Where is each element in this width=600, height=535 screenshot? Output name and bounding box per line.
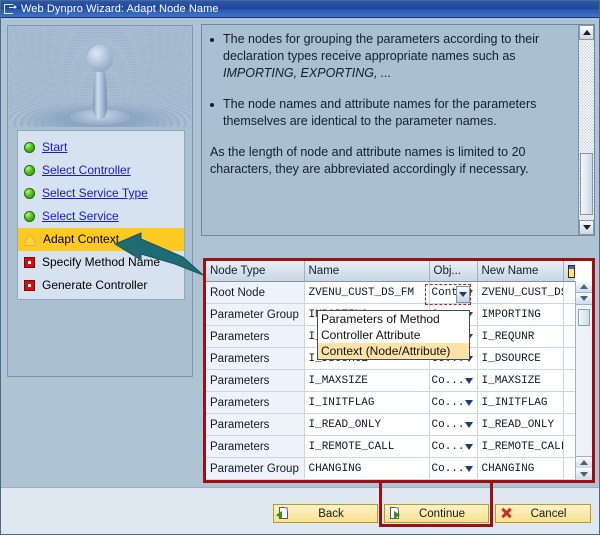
cell-spacer [563,304,575,326]
bullet-text-italic: IMPORTING, EXPORTING, ... [223,66,391,80]
column-header-settings[interactable] [563,261,575,282]
cell-node-type: Root Node [206,282,304,304]
chevron-down-icon[interactable] [465,466,473,472]
cell-object-type-text: Co... [432,375,465,387]
cell-spacer [563,370,575,392]
cell-new-name[interactable]: IMPORTING [477,304,563,326]
cell-node-type: Parameters [206,392,304,414]
sidebar-item-label: Select Service Type [42,187,148,200]
sidebar-item-generate-controller[interactable]: Generate Controller [18,274,184,297]
sidebar-item-select-service[interactable]: Select Service [18,205,184,228]
cell-node-type: Parameters [206,348,304,370]
dropdown-toggle-button[interactable] [456,286,470,303]
chevron-down-icon[interactable] [465,444,473,450]
chevron-down-icon[interactable] [465,378,473,384]
table-header-row: Node Type Name Obj... New Name [206,261,575,282]
cell-new-name[interactable]: ZVENU_CUST_DS_FM [477,282,563,304]
table-row[interactable]: ParametersI_MAXSIZECo...I_MAXSIZE [206,370,575,392]
sidebar-item-label: Select Service [42,210,119,223]
status-complete-icon [24,165,35,176]
cell-object-type-text: Co... [432,397,465,409]
back-arrow-icon [276,506,291,521]
continue-button[interactable]: Continue [384,504,489,523]
table-row[interactable]: ParametersI_REMOTE_CALLCo...I_REMOTE_CAL… [206,436,575,458]
sidebar-item-label: Generate Controller [42,279,147,292]
cell-node-type: Parameter Group [206,304,304,326]
cell-name[interactable]: CHANGING [304,458,429,480]
description-text: The nodes for grouping the parameters ac… [210,31,572,231]
cell-object-type-text: Cont [432,287,458,299]
close-icon [498,506,513,521]
cell-object-type[interactable]: Co... [429,392,477,414]
dropdown-option[interactable]: Parameters of Method [318,311,469,327]
caret-up-icon [580,284,588,289]
parameters-table: Node Type Name Obj... New Name Root Node… [206,261,575,480]
table-scroll-down-line-button[interactable] [576,456,592,468]
table-scroll-down-button[interactable] [576,468,592,480]
cell-name[interactable]: I_MAXSIZE [304,370,429,392]
table-scroll-up-line-button[interactable] [576,293,592,305]
table-row[interactable]: ParametersI_READ_ONLYCo...I_READ_ONLY [206,414,575,436]
cell-object-type[interactable]: Co... [429,414,477,436]
cell-node-type: Parameters [206,370,304,392]
cell-new-name[interactable]: I_REMOTE_CALL [477,436,563,458]
cell-node-type: Parameters [206,326,304,348]
table-row[interactable]: Root NodeZVENU_CUST_DS_FMContZVENU_CUST_… [206,282,575,304]
sidebar-item-label: Specify Method Name [42,256,160,269]
table-scrollbar-thumb[interactable] [578,309,590,326]
dropdown-option[interactable]: Controller Attribute [318,327,469,343]
caret-down-icon [583,225,591,230]
chevron-down-icon [459,292,467,297]
status-current-warning-icon [24,234,36,245]
status-pending-icon [24,280,35,291]
cell-object-type-text: Co... [432,419,465,431]
scrollbar-thumb[interactable] [580,153,593,215]
cell-new-name[interactable]: I_DSOURCE [477,348,563,370]
status-complete-icon [24,188,35,199]
table-scrollbar[interactable] [575,281,592,480]
caret-down-icon [580,296,588,301]
description-bullet: The node names and attribute names for t… [210,96,572,130]
cancel-button-label: Cancel [513,508,590,520]
wizard-window: Web Dynpro Wizard: Adapt Node Name Start… [0,0,600,535]
cell-object-type[interactable]: Co... [429,436,477,458]
description-bullet: The nodes for grouping the parameters ac… [210,31,572,82]
bullet-text: The nodes for grouping the parameters ac… [223,32,539,63]
sidebar-item-start[interactable]: Start [18,136,184,159]
water-drop-image [9,27,191,127]
cell-new-name[interactable]: I_READ_ONLY [477,414,563,436]
caret-down-icon [580,472,588,477]
cell-new-name[interactable]: I_INITFLAG [477,392,563,414]
cell-spacer [563,414,575,436]
table-settings-icon [568,265,576,278]
description-panel: The nodes for grouping the parameters ac… [201,24,595,236]
cancel-button[interactable]: Cancel [495,504,591,523]
cell-name[interactable]: I_READ_ONLY [304,414,429,436]
cell-object-type-text: Co... [432,441,465,453]
sidebar-item-select-controller[interactable]: Select Controller [18,159,184,182]
caret-up-icon [580,460,588,465]
status-complete-icon [24,142,35,153]
cell-object-type-text: Co... [432,463,465,475]
sidebar-item-adapt-context[interactable]: Adapt Context [18,228,184,251]
dropdown-option-selected[interactable]: Context (Node/Attribute) [318,343,469,359]
description-scrollbar[interactable] [578,25,594,235]
bullet-text: The node names and attribute names for t… [223,96,572,130]
cell-object-type[interactable]: Co... [429,458,477,480]
bullet-dot-icon [210,38,214,42]
cell-new-name[interactable]: I_REQUNR [477,326,563,348]
window-content: Start Select Controller Select Service T… [1,18,599,534]
cell-spacer [563,326,575,348]
table-scroll-up-button[interactable] [576,281,592,293]
description-paragraph: As the length of node and attribute name… [210,144,572,178]
column-header-new-name[interactable]: New Name [477,261,563,282]
table-row[interactable]: Parameter GroupCHANGINGCo...CHANGING [206,458,575,480]
parameters-table-container: Node Type Name Obj... New Name Root Node… [203,258,595,483]
wizard-step-list: Start Select Controller Select Service T… [17,130,185,300]
status-pending-icon [24,257,35,268]
back-button[interactable]: Back [273,504,378,523]
scroll-down-button[interactable] [579,220,594,235]
cell-new-name[interactable]: I_MAXSIZE [477,370,563,392]
cell-spacer [563,282,575,304]
back-button-label: Back [291,508,377,520]
continue-arrow-icon [387,506,402,521]
continue-button-label: Continue [402,508,488,520]
chevron-down-icon[interactable] [465,400,473,406]
cell-node-type: Parameters [206,436,304,458]
caret-up-icon [583,30,591,35]
cell-spacer [563,348,575,370]
table-row[interactable]: ParametersI_INITFLAGCo...I_INITFLAG [206,392,575,414]
cell-spacer [563,436,575,458]
cell-spacer [563,458,575,480]
cell-name[interactable]: ZVENU_CUST_DS_FM [304,282,429,304]
window-title: Web Dynpro Wizard: Adapt Node Name [21,4,219,15]
scroll-up-button[interactable] [579,25,594,40]
cell-node-type: Parameters [206,414,304,436]
cell-new-name[interactable]: CHANGING [477,458,563,480]
chevron-down-icon[interactable] [465,422,473,428]
cell-object-type[interactable]: Co... [429,370,477,392]
cell-name[interactable]: I_REMOTE_CALL [304,436,429,458]
wizard-window-icon [4,4,17,15]
button-bar: Back Continue Cancel [1,487,599,534]
sidebar-item-label: Start [42,141,67,154]
bullet-dot-icon [210,103,214,107]
window-titlebar: Web Dynpro Wizard: Adapt Node Name [1,1,599,18]
column-header-name[interactable]: Name [304,261,429,282]
column-header-obj[interactable]: Obj... [429,261,477,282]
status-complete-icon [24,211,35,222]
column-header-node-type[interactable]: Node Type [206,261,304,282]
sidebar-item-label: Select Controller [42,164,131,177]
cell-name[interactable]: I_INITFLAG [304,392,429,414]
wizard-sidebar: Start Select Controller Select Service T… [7,25,193,377]
cell-node-type: Parameter Group [206,458,304,480]
sidebar-item-specify-method-name[interactable]: Specify Method Name [18,251,184,274]
sidebar-item-select-service-type[interactable]: Select Service Type [18,182,184,205]
cell-spacer [563,392,575,414]
object-type-dropdown-menu[interactable]: Parameters of Method Controller Attribut… [317,310,470,360]
sidebar-item-label: Adapt Context [43,233,119,246]
